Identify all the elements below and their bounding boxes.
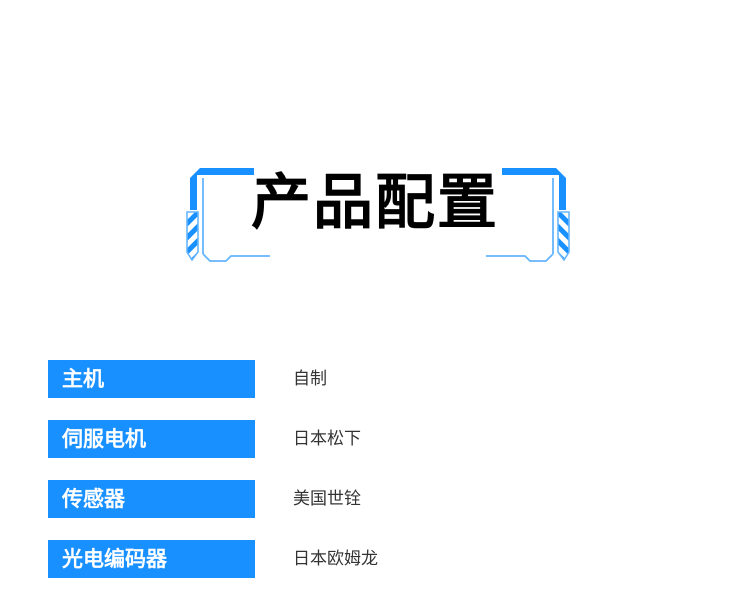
spec-label-photoelectric-encoder: 光电编码器 [48, 540, 255, 578]
page-header: 产品配置 [0, 130, 750, 275]
spec-label-sensor: 传感器 [48, 480, 255, 518]
product-spec-list: 主机 自制 伺服电机 日本松下 传感器 美国世铨 光电编码器 日本欧姆龙 [0, 360, 750, 600]
spec-value-host: 自制 [293, 360, 327, 398]
spec-label-servo-motor: 伺服电机 [48, 420, 255, 458]
spec-label-host: 主机 [48, 360, 255, 398]
spec-value-photoelectric-encoder: 日本欧姆龙 [293, 540, 378, 578]
page-title: 产品配置 [0, 130, 750, 275]
spec-value-servo-motor: 日本松下 [293, 420, 361, 458]
spec-value-sensor: 美国世铨 [293, 480, 361, 518]
spec-row: 光电编码器 日本欧姆龙 [0, 540, 750, 578]
spec-row: 伺服电机 日本松下 [0, 420, 750, 458]
spec-row: 主机 自制 [0, 360, 750, 398]
spec-row: 传感器 美国世铨 [0, 480, 750, 518]
